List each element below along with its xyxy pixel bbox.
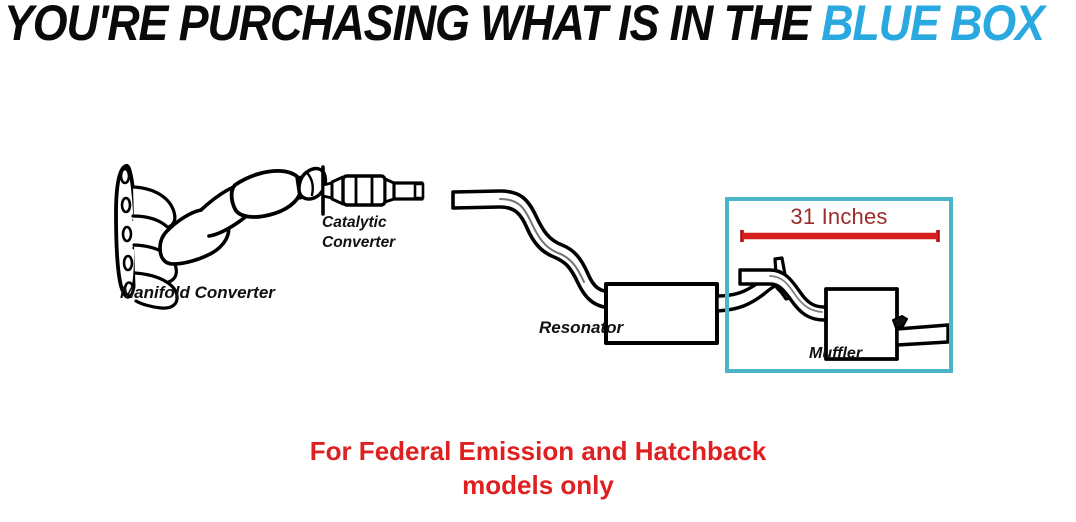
- header-banner: YOU'RE PURCHASING WHAT IS IN THE BLUE BO…: [0, 0, 1076, 52]
- label-muffler: Muffler: [809, 345, 862, 363]
- measurement-bar: [740, 229, 940, 243]
- measurement-label: 31 Inches: [725, 204, 953, 230]
- product-diagram-image: YOU'RE PURCHASING WHAT IS IN THE BLUE BO…: [0, 0, 1076, 522]
- bottom-note-line2: models only: [0, 468, 1076, 502]
- bottom-note: For Federal Emission and Hatchback model…: [0, 434, 1076, 502]
- label-manifold-converter: Manifold Converter: [120, 283, 275, 303]
- header-title-highlight: BLUE BOX: [821, 0, 1044, 51]
- header-title-main: YOU'RE PURCHASING WHAT IS IN THE: [4, 0, 821, 51]
- catalytic-converter-graphic: [323, 167, 423, 214]
- label-catalytic-line2: Converter: [322, 234, 395, 251]
- label-resonator: Resonator: [539, 318, 623, 338]
- bottom-note-line1: For Federal Emission and Hatchback: [0, 434, 1076, 468]
- label-catalytic-converter: Catalytic Converter: [322, 213, 432, 253]
- label-catalytic-line1: Catalytic: [322, 214, 387, 231]
- header-title: YOU'RE PURCHASING WHAT IS IN THE BLUE BO…: [4, 0, 1044, 48]
